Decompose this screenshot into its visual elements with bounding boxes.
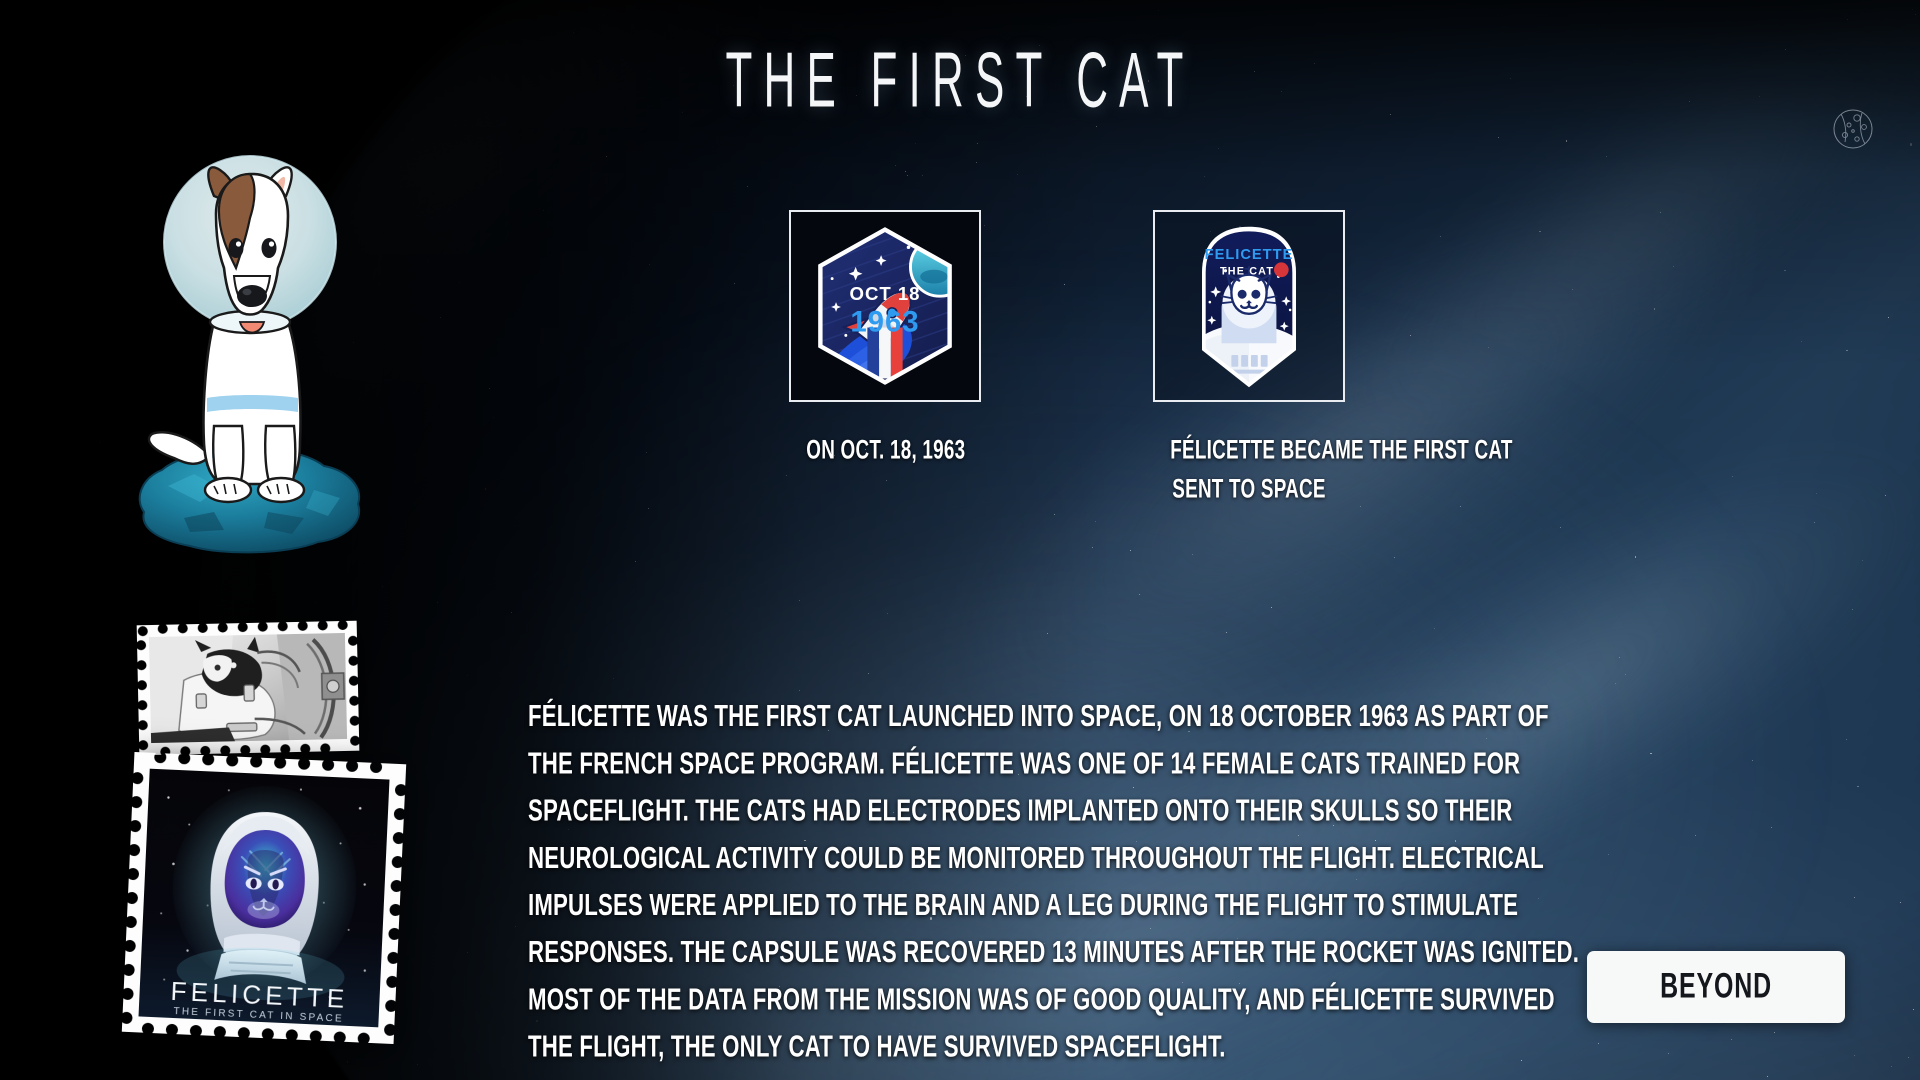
beyond-button-label: BEYOND xyxy=(1660,967,1772,1007)
moon-outline-icon[interactable] xyxy=(1832,108,1874,150)
postage-stamp-felicette-poster[interactable]: FELICETTE THE FIRST CAT IN SPACE xyxy=(122,752,406,1044)
page-background: THE FIRST CAT xyxy=(0,0,1920,1080)
caption-felicette: FÉLICETTE BECAME THE FIRST CAT SENT TO S… xyxy=(1170,430,1327,509)
svg-text:FELICETTE: FELICETTE xyxy=(1205,247,1294,263)
badge-row: OCT 18 1963 xyxy=(789,210,1345,402)
mission-date-badge[interactable]: OCT 18 1963 xyxy=(789,210,981,402)
felicette-badge[interactable]: FELICETTE THE CAT xyxy=(1153,210,1345,402)
badge-caption-row: ON OCT. 18, 1963 FÉLICETTE BECAME THE FI… xyxy=(789,430,1345,497)
postage-stamp-archive-photo[interactable] xyxy=(137,621,360,756)
svg-text:1963: 1963 xyxy=(850,305,919,338)
page-title: THE FIRST CAT xyxy=(192,34,1728,125)
caption-mission-date: ON OCT. 18, 1963 xyxy=(806,430,963,509)
svg-text:THE CAT: THE CAT xyxy=(1220,266,1274,278)
caption-felicette-line1: FÉLICETTE BECAME THE FIRST CAT xyxy=(1170,430,1327,469)
caption-felicette-line2: SENT TO SPACE xyxy=(1170,469,1327,508)
beyond-button[interactable]: BEYOND xyxy=(1587,951,1845,1023)
article-body: FÉLICETTE WAS THE FIRST CAT LAUNCHED INT… xyxy=(528,692,1581,1070)
space-dog-mascot xyxy=(128,126,378,566)
svg-text:OCT 18: OCT 18 xyxy=(850,283,921,304)
